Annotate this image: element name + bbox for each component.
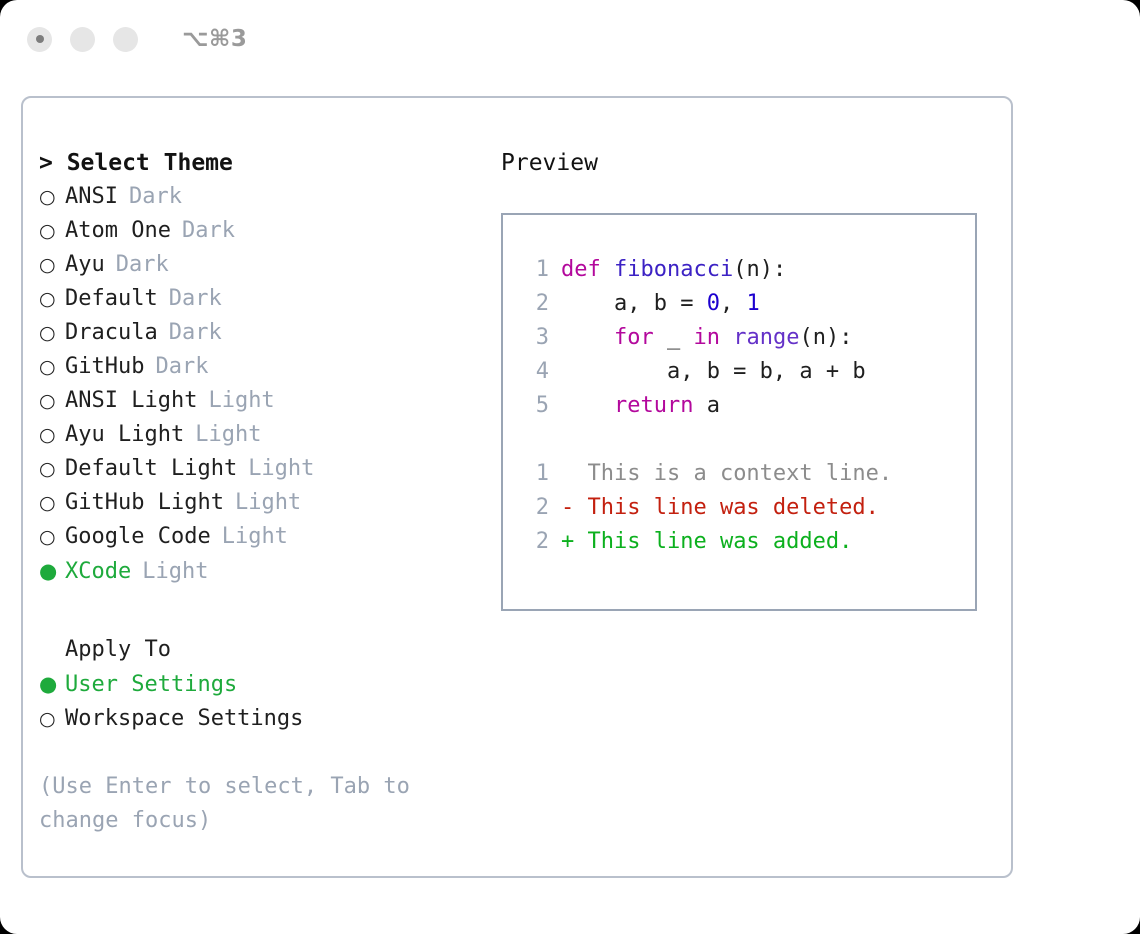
token-kw: in bbox=[693, 325, 720, 350]
theme-name: Dracula bbox=[65, 316, 158, 350]
radio-unselected-icon: ○ bbox=[39, 180, 65, 214]
panel-spacer bbox=[39, 589, 469, 633]
token-plain: a bbox=[693, 393, 720, 418]
code-text: return a bbox=[561, 389, 720, 423]
preview-header: Preview bbox=[501, 146, 991, 180]
code-text: a, b = 0, 1 bbox=[561, 287, 760, 321]
card-columns: > Select Theme ○ANSIDark○Atom OneDark○Ay… bbox=[23, 98, 1011, 876]
diff-sign: - bbox=[561, 491, 574, 525]
main-card: > Select Theme ○ANSIDark○Atom OneDark○Ay… bbox=[21, 96, 1013, 878]
token-plain: a, b = b, a + b bbox=[561, 359, 866, 384]
theme-kind-label: Light bbox=[224, 486, 301, 520]
theme-option-ayu-light[interactable]: ○Ayu LightLight bbox=[39, 418, 469, 452]
line-number: 2 bbox=[515, 287, 561, 321]
token-num: 0 bbox=[707, 291, 720, 316]
radio-unselected-icon: ○ bbox=[39, 418, 65, 452]
radio-unselected-icon: ○ bbox=[39, 248, 65, 282]
theme-kind-label: Dark bbox=[158, 316, 222, 350]
theme-kind-label: Dark bbox=[118, 180, 182, 214]
apply-to-option-user-settings[interactable]: ●User Settings bbox=[39, 667, 469, 702]
token-plain: a, b = bbox=[561, 291, 707, 316]
traffic-light-maximize[interactable] bbox=[113, 27, 138, 52]
theme-kind-label: Light bbox=[237, 452, 314, 486]
select-theme-header: > Select Theme bbox=[39, 146, 469, 180]
code-line: 1def fibonacci(n): bbox=[515, 253, 975, 287]
radio-unselected-icon: ○ bbox=[39, 702, 65, 736]
preview-box: 1def fibonacci(n):2 a, b = 0, 13 for _ i… bbox=[501, 213, 977, 611]
theme-name: ANSI bbox=[65, 180, 118, 214]
theme-kind-label: Light bbox=[131, 555, 208, 589]
apply-to-header: Apply To bbox=[39, 633, 469, 667]
apply-to-label: Workspace Settings bbox=[65, 702, 303, 736]
token-plain bbox=[720, 325, 733, 350]
code-text: def fibonacci(n): bbox=[561, 253, 786, 287]
apply-to-label: User Settings bbox=[65, 668, 237, 702]
code-text: a, b = b, a + b bbox=[561, 355, 866, 389]
theme-kind-label: Dark bbox=[144, 350, 208, 384]
title-bar: ⌥⌘3 bbox=[0, 0, 1140, 78]
theme-option-default-light[interactable]: ○Default LightLight bbox=[39, 452, 469, 486]
code-line: 2 a, b = 0, 1 bbox=[515, 287, 975, 321]
radio-unselected-icon: ○ bbox=[39, 350, 65, 384]
radio-unselected-icon: ○ bbox=[39, 384, 65, 418]
theme-name: Google Code bbox=[65, 520, 211, 554]
theme-kind-label: Light bbox=[197, 384, 274, 418]
keyboard-hint: (Use Enter to select, Tab to change focu… bbox=[39, 770, 444, 838]
theme-option-ayu[interactable]: ○AyuDark bbox=[39, 248, 469, 282]
code-line: 3 for _ in range(n): bbox=[515, 321, 975, 355]
token-plain: (n): bbox=[799, 325, 852, 350]
token-plain bbox=[561, 393, 614, 418]
code-sample: 1def fibonacci(n):2 a, b = 0, 13 for _ i… bbox=[515, 253, 975, 423]
token-plain bbox=[601, 257, 614, 282]
theme-option-google-code[interactable]: ○Google CodeLight bbox=[39, 520, 469, 554]
radio-unselected-icon: ○ bbox=[39, 452, 65, 486]
apply-to-list: ●User Settings○Workspace Settings bbox=[39, 667, 469, 736]
code-line: 5 return a bbox=[515, 389, 975, 423]
theme-option-github-light[interactable]: ○GitHub LightLight bbox=[39, 486, 469, 520]
code-line: 4 a, b = b, a + b bbox=[515, 355, 975, 389]
traffic-light-close[interactable] bbox=[27, 27, 52, 52]
theme-name: Default Light bbox=[65, 452, 237, 486]
theme-option-ansi[interactable]: ○ANSIDark bbox=[39, 180, 469, 214]
theme-name: Atom One bbox=[65, 214, 171, 248]
line-number: 2 bbox=[515, 525, 561, 559]
token-kw: def bbox=[561, 257, 601, 282]
theme-list: ○ANSIDark○Atom OneDark○AyuDark○DefaultDa… bbox=[39, 180, 469, 589]
diff-line: 1 This is a context line. bbox=[515, 457, 975, 491]
diff-line: 2+ This line was added. bbox=[515, 525, 975, 559]
theme-selector-panel: > Select Theme ○ANSIDark○Atom OneDark○Ay… bbox=[39, 146, 469, 838]
theme-kind-label: Dark bbox=[171, 214, 235, 248]
theme-option-ansi-light[interactable]: ○ANSI LightLight bbox=[39, 384, 469, 418]
radio-selected-icon: ● bbox=[39, 667, 65, 701]
theme-option-default[interactable]: ○DefaultDark bbox=[39, 282, 469, 316]
diff-line: 2- This line was deleted. bbox=[515, 491, 975, 525]
diff-text: This line was deleted. bbox=[574, 491, 879, 525]
radio-unselected-icon: ○ bbox=[39, 520, 65, 554]
radio-unselected-icon: ○ bbox=[39, 282, 65, 316]
line-number: 2 bbox=[515, 491, 561, 525]
theme-option-dracula[interactable]: ○DraculaDark bbox=[39, 316, 469, 350]
radio-selected-icon: ● bbox=[39, 554, 65, 588]
token-plain: , bbox=[720, 291, 747, 316]
theme-option-xcode[interactable]: ●XCodeLight bbox=[39, 554, 469, 589]
theme-kind-label: Light bbox=[184, 418, 261, 452]
preview-panel: Preview 1def fibonacci(n):2 a, b = 0, 13… bbox=[501, 146, 991, 611]
code-text: for _ in range(n): bbox=[561, 321, 852, 355]
preview-gap bbox=[515, 423, 975, 457]
diff-text: This line was added. bbox=[574, 525, 852, 559]
window-controls bbox=[27, 27, 138, 52]
line-number: 1 bbox=[515, 457, 561, 491]
traffic-light-dot-icon bbox=[36, 35, 44, 43]
radio-unselected-icon: ○ bbox=[39, 316, 65, 350]
traffic-light-minimize[interactable] bbox=[70, 27, 95, 52]
token-kw: for bbox=[614, 325, 654, 350]
line-number: 3 bbox=[515, 321, 561, 355]
line-number: 1 bbox=[515, 253, 561, 287]
theme-name: GitHub bbox=[65, 350, 144, 384]
theme-name: Ayu Light bbox=[65, 418, 184, 452]
radio-unselected-icon: ○ bbox=[39, 214, 65, 248]
diff-text: This is a context line. bbox=[574, 457, 892, 491]
theme-option-atom-one[interactable]: ○Atom OneDark bbox=[39, 214, 469, 248]
theme-kind-label: Light bbox=[211, 520, 288, 554]
diff-sample: 1 This is a context line.2- This line wa… bbox=[515, 457, 975, 559]
line-number: 5 bbox=[515, 389, 561, 423]
line-number: 4 bbox=[515, 355, 561, 389]
apply-to-option-workspace-settings[interactable]: ○Workspace Settings bbox=[39, 702, 469, 736]
token-fn: fibonacci bbox=[614, 257, 733, 282]
theme-name: ANSI Light bbox=[65, 384, 197, 418]
diff-sign bbox=[561, 457, 574, 491]
token-plain bbox=[561, 325, 614, 350]
theme-kind-label: Dark bbox=[158, 282, 222, 316]
diff-sign: + bbox=[561, 525, 574, 559]
token-num: 1 bbox=[746, 291, 759, 316]
theme-kind-label: Dark bbox=[105, 248, 169, 282]
token-kw: return bbox=[614, 393, 693, 418]
token-plain: _ bbox=[654, 325, 694, 350]
theme-name: XCode bbox=[65, 555, 131, 589]
theme-option-github[interactable]: ○GitHubDark bbox=[39, 350, 469, 384]
radio-unselected-icon: ○ bbox=[39, 486, 65, 520]
theme-name: GitHub Light bbox=[65, 486, 224, 520]
theme-name: Default bbox=[65, 282, 158, 316]
token-plain: (n): bbox=[733, 257, 786, 282]
token-builtin: range bbox=[733, 325, 799, 350]
theme-name: Ayu bbox=[65, 248, 105, 282]
keyboard-shortcut-label: ⌥⌘3 bbox=[182, 26, 247, 52]
app-window: ⌥⌘3 > Select Theme ○ANSIDark○Atom OneDar… bbox=[0, 0, 1140, 934]
